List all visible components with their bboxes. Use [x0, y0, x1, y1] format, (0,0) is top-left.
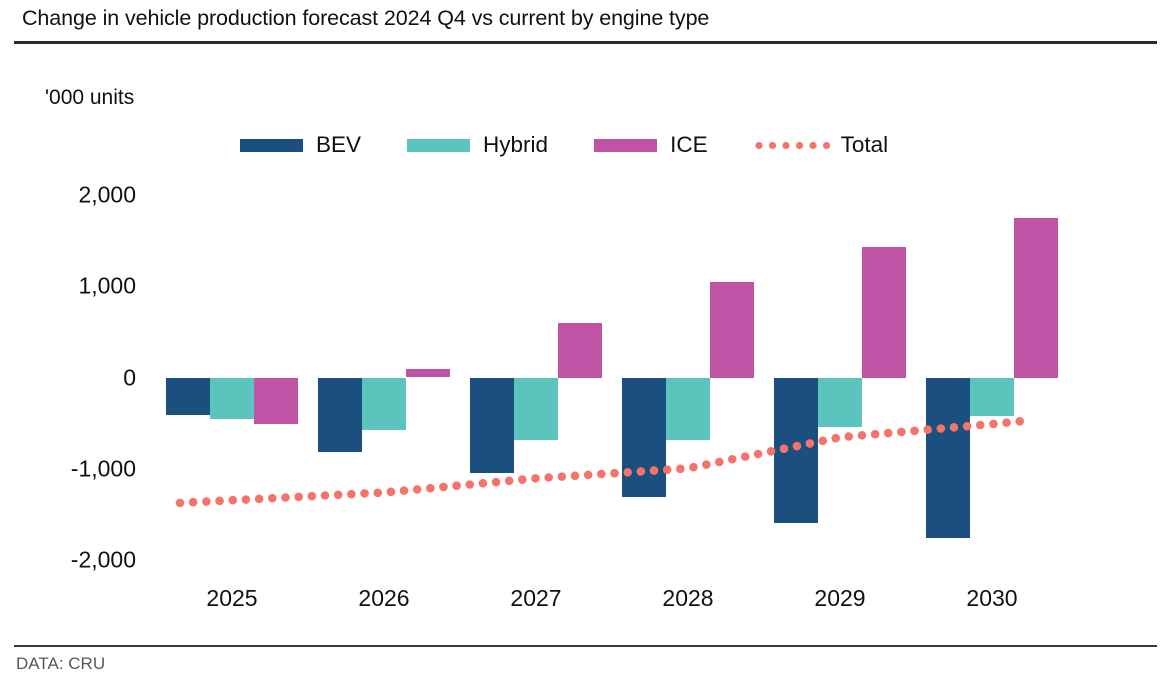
chart-plot-area: 2,0001,0000-1,000-2,00020252026202720282… [0, 0, 1171, 640]
bar-bev-2025[interactable] [166, 378, 210, 416]
x-axis-tick-label-2027: 2027 [510, 585, 561, 612]
bar-hybrid-2028[interactable] [666, 378, 710, 441]
bar-ice-2025[interactable] [254, 378, 298, 425]
bar-ice-2028[interactable] [710, 282, 754, 378]
y-axis-tick-label: -2,000 [0, 547, 136, 574]
x-axis-tick-label-2030: 2030 [966, 585, 1017, 612]
x-axis-tick-label-2026: 2026 [358, 585, 409, 612]
y-axis-tick-label: 2,000 [0, 182, 136, 209]
bar-ice-2026[interactable] [406, 369, 450, 377]
total-line-series [0, 0, 1171, 640]
x-axis-tick-label-2025: 2025 [206, 585, 257, 612]
y-axis-tick-label: 0 [0, 364, 136, 391]
bar-hybrid-2029[interactable] [818, 378, 862, 427]
bar-ice-2030[interactable] [1014, 218, 1058, 378]
footer-divider [14, 645, 1157, 647]
x-axis-tick-label-2029: 2029 [814, 585, 865, 612]
y-axis-tick-label: 1,000 [0, 273, 136, 300]
bar-hybrid-2025[interactable] [210, 378, 254, 419]
bar-bev-2026[interactable] [318, 378, 362, 453]
bar-hybrid-2026[interactable] [362, 378, 406, 431]
data-source-note: DATA: CRU [16, 654, 105, 674]
y-axis-tick-label: -1,000 [0, 455, 136, 482]
bar-bev-2027[interactable] [470, 378, 514, 473]
bar-hybrid-2030[interactable] [970, 378, 1014, 416]
bar-ice-2029[interactable] [862, 247, 906, 377]
bar-bev-2029[interactable] [774, 378, 818, 523]
bar-ice-2027[interactable] [558, 323, 602, 378]
bar-hybrid-2027[interactable] [514, 378, 558, 441]
bar-bev-2028[interactable] [622, 378, 666, 498]
bar-bev-2030[interactable] [926, 378, 970, 539]
x-axis-tick-label-2028: 2028 [662, 585, 713, 612]
